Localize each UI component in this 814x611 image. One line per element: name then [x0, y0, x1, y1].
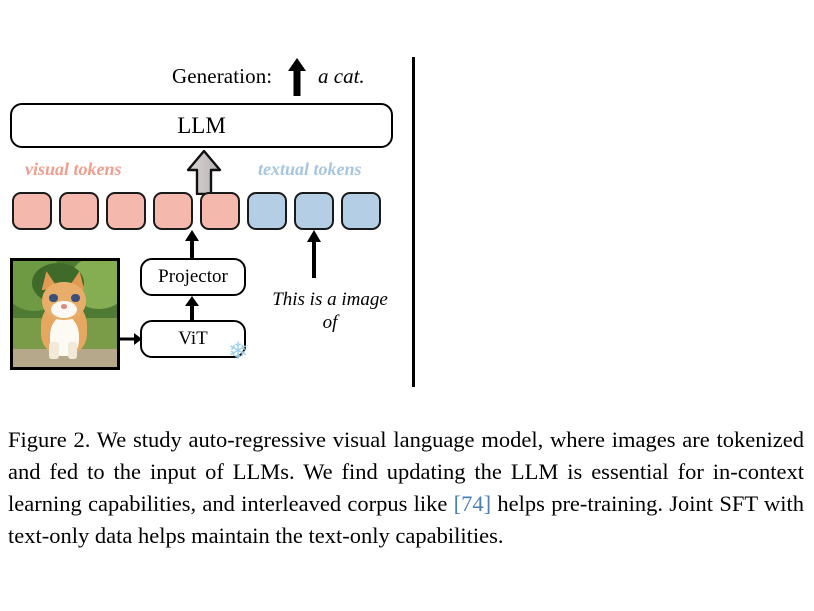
right-training-recipe-panel: Projector LLM Step 0: Projector init. 🔥 … — [413, 0, 814, 400]
visual-token — [200, 192, 240, 230]
vit-to-projector-arrow-icon — [184, 296, 200, 322]
generation-up-arrow-icon — [288, 58, 306, 96]
generation-output-text: a cat. — [318, 64, 365, 89]
projector-to-tokens-arrow-icon — [184, 230, 200, 260]
projector-box: Projector — [140, 258, 246, 296]
textual-tokens-label: textual tokens — [258, 159, 362, 180]
generation-label: Generation: — [172, 64, 272, 89]
snowflake-icon: ❄ — [228, 337, 248, 366]
token-sequence-row — [12, 192, 381, 230]
text-to-tokens-arrow-icon — [306, 230, 322, 278]
visual-token — [12, 192, 52, 230]
left-architecture-panel: Generation: a cat. LLM visual tokens tex… — [0, 0, 413, 400]
textual-token — [341, 192, 381, 230]
cat-input-image — [10, 258, 120, 370]
image-to-vit-arrow-icon — [120, 332, 142, 346]
visual-token — [59, 192, 99, 230]
citation-link-74[interactable]: [74] — [454, 491, 492, 516]
figure-root: Generation: a cat. LLM visual tokens tex… — [0, 0, 814, 611]
llm-box: LLM — [10, 103, 393, 148]
tokens-to-llm-arrow-icon — [186, 150, 222, 195]
visual-token — [153, 192, 193, 230]
visual-token — [106, 192, 146, 230]
prompt-text: This is a image of — [270, 288, 390, 334]
figure-caption: Figure 2. We study auto-regressive visua… — [8, 424, 804, 552]
textual-token — [294, 192, 334, 230]
visual-tokens-label: visual tokens — [25, 159, 122, 180]
textual-token — [247, 192, 287, 230]
